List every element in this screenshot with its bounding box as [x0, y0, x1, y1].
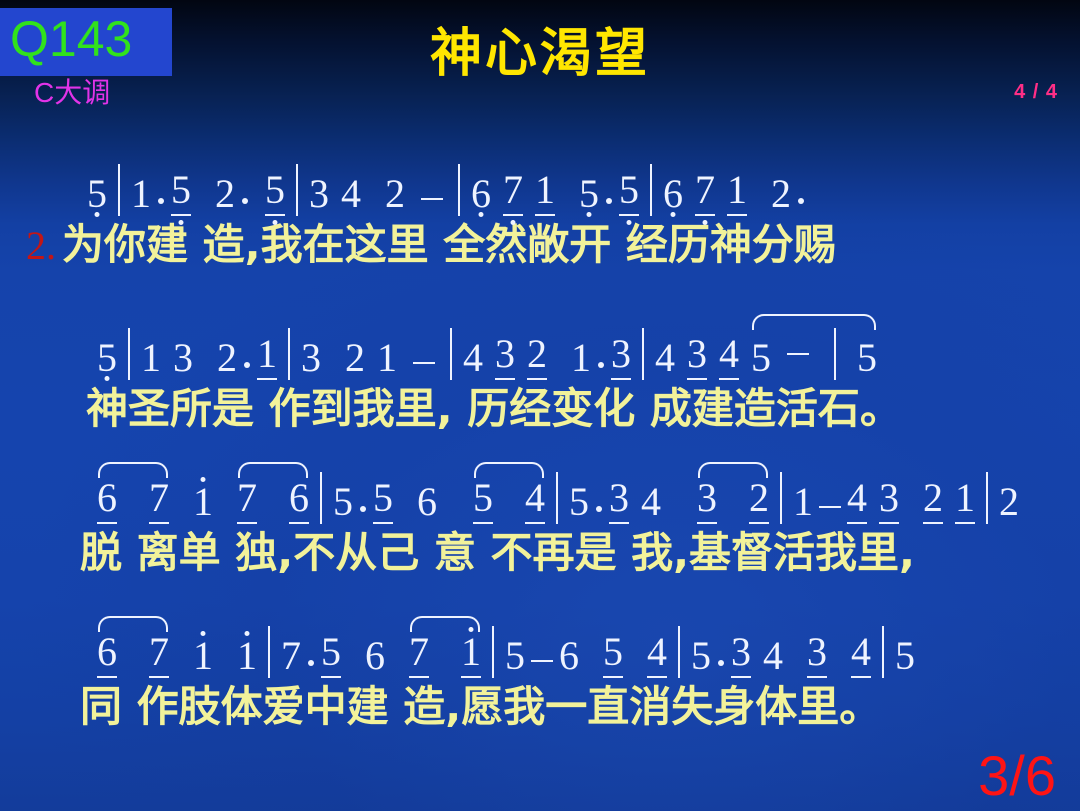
lyrics-row-1: 2.为你建 造,我在这里 全然敞开 经历神分赐 — [0, 220, 1080, 271]
note: 7 — [236, 476, 258, 524]
note: 5 — [472, 476, 494, 524]
note: 5 — [690, 634, 712, 678]
note: 6 — [364, 634, 386, 678]
time-signature: 4 / 4 — [1014, 82, 1058, 102]
note: 4 — [762, 634, 784, 678]
note: 5 — [264, 168, 286, 216]
note: 5 — [856, 336, 878, 380]
barline — [556, 472, 558, 524]
barline — [450, 328, 452, 380]
note: 6 — [96, 630, 118, 678]
verse-number: 2. — [26, 223, 56, 268]
note: 4 — [462, 336, 484, 380]
note: 3 — [730, 630, 752, 678]
barline — [650, 164, 652, 216]
duration-dash — [819, 506, 841, 508]
note: 4 — [654, 336, 676, 380]
note: 6 — [558, 634, 580, 678]
note: 3 — [172, 336, 194, 380]
note: 6 — [470, 172, 492, 216]
duration-dot — [606, 198, 612, 204]
note: 1 — [460, 630, 482, 678]
note: 1 — [534, 168, 556, 216]
notation-row-1: 5 1 5 2 5 3 4 2 6 7 1 5 — [0, 158, 1080, 216]
note: 4 — [340, 172, 362, 216]
note: 6 — [662, 172, 684, 216]
note: 1 — [954, 476, 976, 524]
music-system-2: 5 1 3 2 1 3 2 1 4 3 2 1 3 — [0, 322, 1080, 434]
duration-dot — [596, 506, 602, 512]
page-title: 神心渴望 — [0, 26, 1080, 82]
note: 5 — [602, 630, 624, 678]
notation-row-4: 6 7 1 1 7 5 6 7 1 5 6 5 — [0, 620, 1080, 678]
note: 2 — [526, 332, 548, 380]
lyrics-text: 脱 离单 独,不从己 意 不再是 我,基督活我里, — [80, 528, 915, 577]
barline — [118, 164, 120, 216]
page-indicator: 3/6 — [978, 747, 1056, 805]
note: 5 — [96, 336, 118, 380]
duration-dot — [598, 362, 604, 368]
note: 4 — [646, 630, 668, 678]
barline — [678, 626, 680, 678]
note: 5 — [332, 480, 354, 524]
duration-dash — [413, 362, 435, 364]
lyrics-row-4: 同 作肢体爱中建 造,愿我一直消失身体里。 — [0, 682, 1080, 732]
note: 7 — [280, 634, 302, 678]
note: 3 — [806, 630, 828, 678]
note: 3 — [878, 476, 900, 524]
note: 2 — [384, 172, 406, 216]
note: 5 — [504, 634, 526, 678]
note: 3 — [696, 476, 718, 524]
note: 7 — [148, 476, 170, 524]
barline — [288, 328, 290, 380]
note: 6 — [288, 476, 310, 524]
barline — [320, 472, 322, 524]
duration-dot — [798, 198, 804, 204]
notation-row-2: 5 1 3 2 1 3 2 1 4 3 2 1 3 — [0, 322, 1080, 380]
note: 4 — [640, 480, 662, 524]
music-system-1: 5 1 5 2 5 3 4 2 6 7 1 5 — [0, 158, 1080, 271]
note: 5 — [170, 168, 192, 216]
slur: 6 7 — [96, 630, 170, 678]
barline — [296, 164, 298, 216]
duration-dash — [531, 660, 553, 662]
note: 5 — [372, 476, 394, 524]
slur: 7 1 — [408, 630, 482, 678]
lyrics-row-3: 脱 离单 独,不从己 意 不再是 我,基督活我里, — [0, 528, 1080, 578]
note: 5 — [894, 634, 916, 678]
slur: 7 6 — [236, 476, 310, 524]
note: 4 — [850, 630, 872, 678]
note: 1 — [130, 172, 152, 216]
barline — [268, 626, 270, 678]
music-system-4: 6 7 1 1 7 5 6 7 1 5 6 5 — [0, 620, 1080, 732]
note: 1 — [192, 480, 214, 524]
barline — [780, 472, 782, 524]
note: 2 — [216, 336, 238, 380]
duration-dash — [787, 353, 809, 355]
note: 1 — [140, 336, 162, 380]
note: 2 — [998, 480, 1020, 524]
note: 7 — [502, 168, 524, 216]
slur: 6 7 — [96, 476, 170, 524]
note: 3 — [686, 332, 708, 380]
key-signature-label: C大调 — [34, 79, 110, 107]
note: 5 — [320, 630, 342, 678]
note: 7 — [148, 630, 170, 678]
barline — [642, 328, 644, 380]
lyrics-text: 为你建 造,我在这里 全然敞开 经历神分赐 — [62, 220, 836, 269]
note: 1 — [792, 480, 814, 524]
duration-dash — [421, 198, 443, 200]
slide-canvas: Q143 C大调 神心渴望 4 / 4 3/6 5 1 5 2 5 3 4 2 … — [0, 0, 1080, 811]
note: 1 — [256, 332, 278, 380]
note: 2 — [748, 476, 770, 524]
music-system-3: 6 7 1 7 6 5 5 6 5 4 — [0, 466, 1080, 578]
barline — [128, 328, 130, 380]
note: 1 — [726, 168, 748, 216]
duration-dot — [308, 660, 314, 666]
tie-slur: 5 5 — [750, 328, 878, 380]
note: 1 — [192, 634, 214, 678]
lyrics-text: 神圣所是 作到我里, 历经变化 成建造活石。 — [86, 384, 902, 433]
note: 2 — [344, 336, 366, 380]
duration-dot — [244, 362, 250, 368]
note: 3 — [610, 332, 632, 380]
note: 5 — [568, 480, 590, 524]
barline — [458, 164, 460, 216]
note: 5 — [618, 168, 640, 216]
note: 4 — [846, 476, 868, 524]
duration-dot — [242, 198, 248, 204]
lyrics-row-2: 神圣所是 作到我里, 历经变化 成建造活石。 — [0, 384, 1080, 434]
duration-dot — [718, 660, 724, 666]
note: 5 — [86, 172, 108, 216]
note: 4 — [718, 332, 740, 380]
note: 5 — [750, 336, 772, 380]
note: 3 — [494, 332, 516, 380]
note: 5 — [578, 172, 600, 216]
duration-dot — [158, 198, 164, 204]
barline — [492, 626, 494, 678]
slur: 3 2 — [696, 476, 770, 524]
note: 7 — [408, 630, 430, 678]
note: 4 — [524, 476, 546, 524]
note: 1 — [236, 634, 258, 678]
note: 2 — [770, 172, 792, 216]
notation-row-3: 6 7 1 7 6 5 5 6 5 4 — [0, 466, 1080, 524]
duration-dot — [360, 506, 366, 512]
note: 6 — [416, 480, 438, 524]
note: 3 — [300, 336, 322, 380]
lyrics-text: 同 作肢体爱中建 造,愿我一直消失身体里。 — [80, 682, 881, 731]
barline — [882, 626, 884, 678]
note: 7 — [694, 168, 716, 216]
note: 2 — [214, 172, 236, 216]
note: 2 — [922, 476, 944, 524]
note: 1 — [570, 336, 592, 380]
note: 6 — [96, 476, 118, 524]
note: 3 — [308, 172, 330, 216]
note: 1 — [376, 336, 398, 380]
slur: 5 4 — [472, 476, 546, 524]
barline — [986, 472, 988, 524]
note: 3 — [608, 476, 630, 524]
barline — [834, 328, 836, 380]
